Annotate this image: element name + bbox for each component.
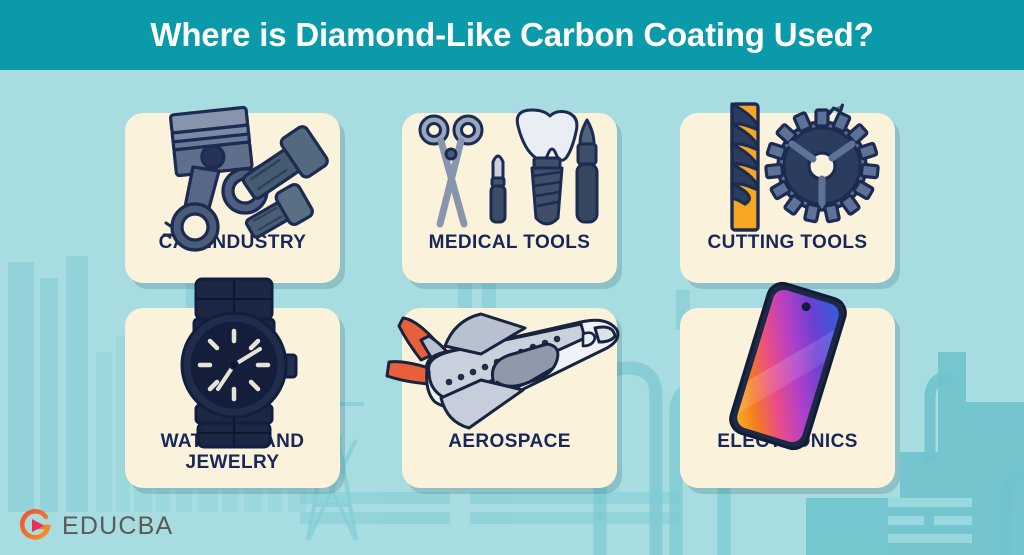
brand-name: EDUCBA xyxy=(62,512,173,541)
header-banner: Where is Diamond-Like Carbon Coating Use… xyxy=(0,0,1024,70)
card-car-industry[interactable]: CAR INDUSTRY xyxy=(125,113,340,283)
infographic-root: Where is Diamond-Like Carbon Coating Use… xyxy=(0,0,1024,555)
card-cutting-tools[interactable]: CUTTING TOOLS xyxy=(680,113,895,283)
card-electronics[interactable]: ELECTRONICS xyxy=(680,308,895,488)
piston-and-bolts-icon xyxy=(125,113,340,231)
page-title: Where is Diamond-Like Carbon Coating Use… xyxy=(150,16,873,54)
wristwatch-icon xyxy=(125,308,340,428)
airplane-icon xyxy=(402,308,617,428)
smartphone-icon xyxy=(680,308,895,428)
educba-play-circle-logo xyxy=(18,509,52,543)
surgical-scissors-and-dental-implant-icon xyxy=(402,113,617,231)
card-aerospace[interactable]: AEROSPACE xyxy=(402,308,617,488)
card-medical-tools[interactable]: MEDICAL TOOLS xyxy=(402,113,617,283)
card-watches-and-jewelry[interactable]: WATCHES AND JEWELRY xyxy=(125,308,340,488)
footer-brand[interactable]: EDUCBA xyxy=(18,509,173,543)
drill-bit-and-gear-icon xyxy=(680,113,895,231)
cards-grid: CAR INDUSTRY xyxy=(0,70,1024,495)
